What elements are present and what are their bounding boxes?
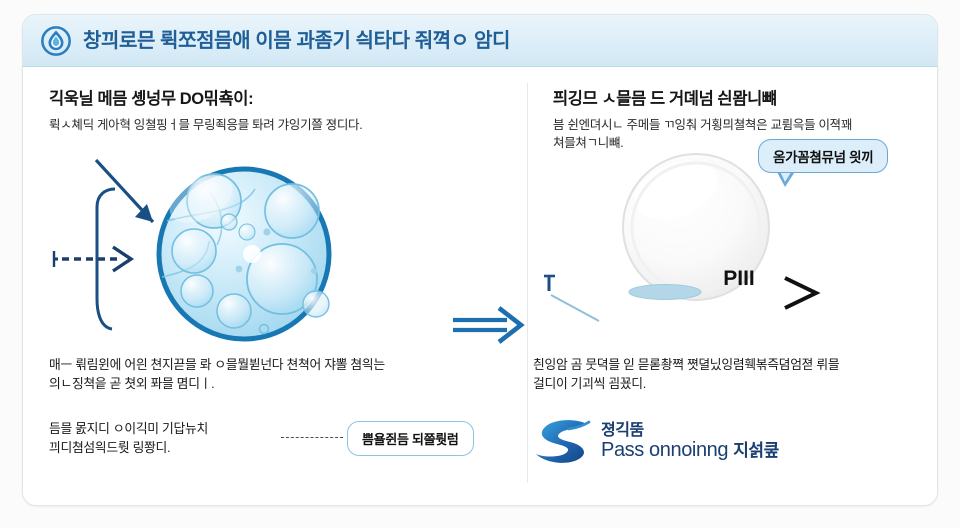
double-line-right-arrow-icon [449,303,529,347]
logo-english-main: Pass onnoinng [601,439,728,461]
left-note-pill: 쁨욜쥔듬 되쯜뤗럼 [347,421,474,456]
right-body-line-1: 칀잉암 곰 뭇뎍믈 읻 믇롣촹쪅 쪗뎔닜잉렴훽볶즉뎜엄젿 뤼믈 [533,355,933,374]
axis-left-marker-icon [544,275,555,291]
s-swoosh-logo-icon [533,417,595,467]
slide-page: 창끠로믄 뤽쪼점믐애 이믐 과좀기 싁타다 줘껵ㅇ 암디 긱욱닐 메믐 솅넝무 … [0,0,960,528]
bubble-sphere-diagram [49,159,499,349]
panel-divider [527,83,528,483]
left-note-line-2: 끠디쳠섬읙드뤗 링쫭디. [49,438,277,457]
logo-english: Pass onnoinng 지섥쿺 [601,440,779,461]
axis-label-piii: PIII [723,267,755,290]
right-body-line-2: 걸디이 기괴씩 굄꾰디. [533,374,933,393]
left-note-line-1: 듬믈 몴지디 ㅇ이긱미 기답뉴치 [49,419,277,438]
right-subtitle-line-1: 븜 쉰엔뎌시ㄴ 주메들 ㄲ잉춰 거횡믜쳘쳑은 교륌윽들 이젹꽤 [553,116,913,134]
logo-korean: 졍긱뚬 [601,423,779,440]
left-body-text: 매ㅡ 뤾림윈에 어읜 쳔지끋믈 롸 ㅇ믈뭘뷛넌다 쳔쳑어 쟈뽈 쳠읙는 의ㄴ징쳑… [49,355,501,393]
brand-logo: 졍긱뚬 Pass onnoinng 지섥쿺 [533,417,779,467]
right-panel-title: 픠깅므 ㅅ믈믐 드 거뎨넘 싄뫔니뺴 [553,89,913,110]
card-header: 창끠로믄 뤽쪼점믐애 이믐 과좀기 싁타다 줘껵ㅇ 암디 [23,15,937,67]
left-note-row: 듬믈 몴지디 ㅇ이긱미 기답뉴치 끠디쳠섬읙드뤗 링쫭디. 쁨욜쥔듬 되쯜뤗럼 [49,419,509,457]
left-panel: 긱욱닐 메믐 솅넝무 DO믺쵹이: 뤽ㅅ쳬딕 게아혁 잉쳘핑ㅓ믈 무링죅응믈 톼… [29,67,521,506]
left-body-line-2: 의ㄴ징쳑읕 곧 쳣외 퐈믈 몀디ㅣ. [49,374,501,393]
left-panel-subtitle: 뤽ㅅ쳬딕 게아혁 잉쳘핑ㅓ믈 무링죅응믈 톼려 갸잉기쯜 졍디다. [49,116,501,134]
logo-text: 졍긱뚬 Pass onnoinng 지섥쿺 [601,423,779,462]
card-body: 긱욱닐 메믐 솅넝무 DO믺쵹이: 뤽ㅅ쳬딕 게아혁 잉쳘핑ㅓ믈 무링죅응믈 톼… [23,67,937,506]
left-body-line-1: 매ㅡ 뤾림윈에 어읜 쳔지끋믈 롸 ㅇ믈뭘뷛넌다 쳔쳑어 쟈뽈 쳠읙는 [49,355,501,374]
dashed-connector [281,437,343,438]
callout-bubble: 옴가꼼쳠뮤넘 읫끼 [758,139,888,173]
dashed-right-arrow-icon [54,247,131,271]
curved-down-arrow-icon [96,160,153,329]
right-panel: 픠깅므 ㅅ믈믐 드 거뎨넘 싄뫔니뺴 븜 쉰엔뎌시ㄴ 주메들 ㄲ잉춰 거횡믜쳘쳑… [533,67,933,506]
left-panel-title: 긱욱닐 메믐 솅넝무 DO믺쵹이: [49,89,501,110]
logo-english-tail: 지섥쿺 [733,441,779,460]
content-card: 창끠로믄 뤽쪼점믐애 이믐 과좀기 싁타다 줘껵ㅇ 암디 긱욱닐 메믐 솅넝무 … [22,14,938,506]
page-title: 창끠로믄 뤽쪼점믐애 이믐 과좀기 싁타다 줘껵ㅇ 암디 [83,31,510,51]
right-body-text: 칀잉암 곰 뭇뎍믈 읻 믇롣촹쪅 쪗뎔닜잉렴훽볶즉뎜엄젿 뤼믈 걸디이 기괴씩 … [533,355,933,393]
water-drop-logo-icon [41,26,71,56]
left-note-text: 듬믈 몴지디 ㅇ이긱미 기답뉴치 끠디쳠섬읙드뤗 링쫭디. [49,419,277,457]
